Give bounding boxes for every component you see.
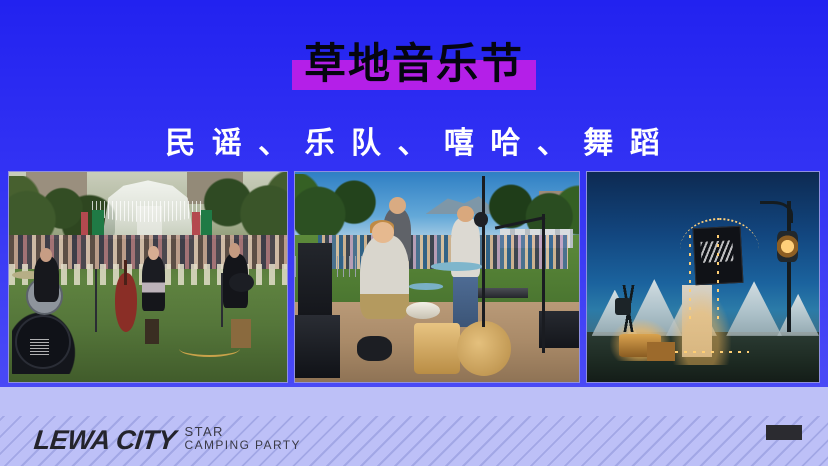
crash-cymbal (431, 262, 482, 270)
mic-stand-left (95, 269, 97, 332)
lantern-icon (777, 231, 798, 263)
photo-3-artwork (587, 172, 819, 382)
microphone (474, 212, 488, 227)
string-lights-drop-left (689, 235, 691, 323)
warm-glow-center (671, 290, 731, 366)
photo-1-artwork (9, 172, 287, 382)
brand-lockup: LEWA CITY STAR CAMPING PARTY (34, 425, 301, 454)
footer-mark (766, 425, 802, 440)
slide-canvas: 草地音乐节 民 谣 、 乐 队 、 嘻 哈 、 舞 蹈 (0, 0, 828, 466)
photo-2-artwork (295, 172, 579, 382)
mic-stand-center (482, 176, 485, 327)
title-wrap: 草地音乐节 (304, 43, 524, 85)
brand-tagline-line1: STAR (185, 425, 301, 439)
kick-drum (457, 321, 511, 376)
acoustic-guitar (229, 273, 254, 292)
drummer-body (34, 256, 59, 302)
guitarist-head (389, 197, 406, 214)
photo-gallery (8, 171, 820, 383)
brand-name: LEWA CITY (33, 427, 177, 454)
singer-jeans (453, 273, 479, 328)
hi-hat-cymbal (409, 283, 443, 289)
stage-cable (179, 340, 240, 357)
wooden-stool-center (145, 319, 159, 344)
speaker-monitor-left (295, 315, 340, 378)
speaker-stack-left (298, 243, 332, 314)
singer-head (457, 206, 474, 223)
photo-evening-lawn-concert (8, 171, 288, 383)
floor-tom (414, 323, 459, 373)
cello-neck (124, 260, 128, 285)
mic-stand-right (221, 273, 223, 328)
snare-drum (406, 302, 440, 319)
guitarist-head (229, 243, 240, 258)
drummer-body (360, 235, 408, 319)
page-title: 草地音乐节 (304, 43, 524, 85)
brand-tagline: STAR CAMPING PARTY (185, 425, 301, 454)
photo-night-camping-lights (586, 171, 820, 383)
title-block: 草地音乐节 (0, 34, 828, 94)
mic-stand-right (542, 214, 545, 353)
string-lights-drop-right (717, 235, 719, 323)
wooden-bench (647, 342, 675, 361)
kick-drum-logo (30, 338, 49, 355)
drum-throne (357, 336, 391, 361)
singer-body (142, 256, 164, 311)
speaker-monitor-right (539, 311, 579, 349)
string-lights-base (666, 351, 750, 353)
brand-tagline-line2: CAMPING PARTY (185, 439, 301, 452)
photo-daytime-outdoor-band (294, 171, 580, 383)
hanging-bag (615, 298, 631, 315)
footer-bar: LEWA CITY STAR CAMPING PARTY (0, 387, 828, 466)
subtitle: 民 谣 、 乐 队 、 嘻 哈 、 舞 蹈 (0, 118, 828, 162)
